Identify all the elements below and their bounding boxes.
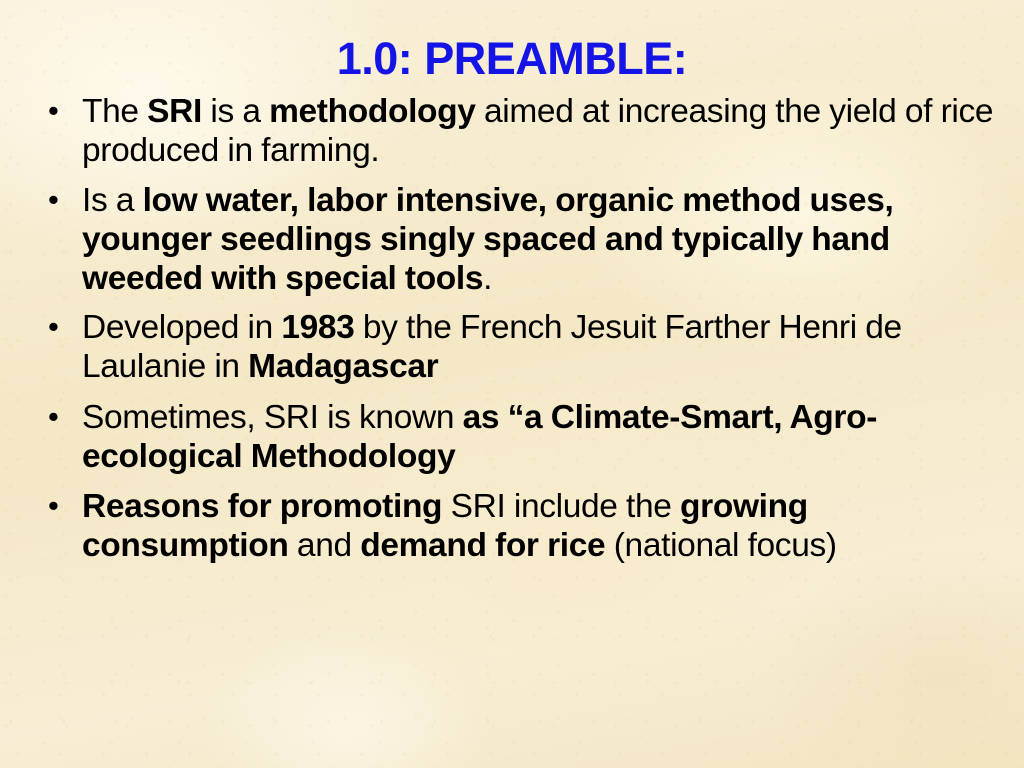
bullet-text-run: is a xyxy=(202,93,269,130)
bullet-point-icon: • xyxy=(48,487,59,524)
bullet-text-emphasis: Madagascar xyxy=(248,348,438,385)
bullet-text: Developed in 1983 by the French Jesuit F… xyxy=(82,309,902,385)
bullet-text-run: SRI include the xyxy=(442,488,680,525)
bullet-point-icon: • xyxy=(48,92,59,129)
bullet-text: Reasons for promoting SRI include the gr… xyxy=(82,488,837,564)
presentation-slide: 1.0: PREAMBLE: •The SRI is a methodology… xyxy=(0,0,1024,768)
bullet-text-run: Is a xyxy=(82,182,143,219)
bullet-text-run: Sometimes, SRI is known xyxy=(82,399,463,436)
bullet-sri-definition: •The SRI is a methodology aimed at incre… xyxy=(44,93,998,170)
slide-content: 1.0: PREAMBLE: •The SRI is a methodology… xyxy=(0,0,1024,566)
bullet-text-run: (national focus) xyxy=(605,527,836,564)
bullet-list: •The SRI is a methodology aimed at incre… xyxy=(0,93,1024,566)
bullet-text-run: Developed in xyxy=(82,309,281,346)
bullet-text-emphasis: Reasons for promoting xyxy=(82,488,442,525)
bullet-text-run: and xyxy=(288,527,360,564)
bullet-origin-history: •Developed in 1983 by the French Jesuit … xyxy=(44,309,998,386)
bullet-point-icon: • xyxy=(48,398,59,435)
bullet-text: Is a low water, labor intensive, organic… xyxy=(82,182,893,296)
bullet-method-characteristics: •Is a low water, labor intensive, organi… xyxy=(44,182,998,298)
bullet-text: Sometimes, SRI is known as “a Climate-Sm… xyxy=(82,399,877,475)
bullet-text-emphasis: demand for rice xyxy=(360,527,605,564)
bullet-text-run: The xyxy=(82,93,147,130)
slide-title: 1.0: PREAMBLE: xyxy=(0,0,1024,81)
bullet-point-icon: • xyxy=(48,308,59,345)
bullet-text-emphasis: SRI xyxy=(147,93,202,130)
bullet-text-emphasis: methodology xyxy=(269,93,475,130)
bullet-text: The SRI is a methodology aimed at increa… xyxy=(82,93,993,169)
bullet-promotion-reasons: •Reasons for promoting SRI include the g… xyxy=(44,488,998,565)
bullet-point-icon: • xyxy=(48,181,59,218)
bullet-alternative-name: •Sometimes, SRI is known as “a Climate-S… xyxy=(44,399,998,476)
bullet-text-emphasis: 1983 xyxy=(281,309,354,346)
bullet-text-run: . xyxy=(483,260,492,297)
